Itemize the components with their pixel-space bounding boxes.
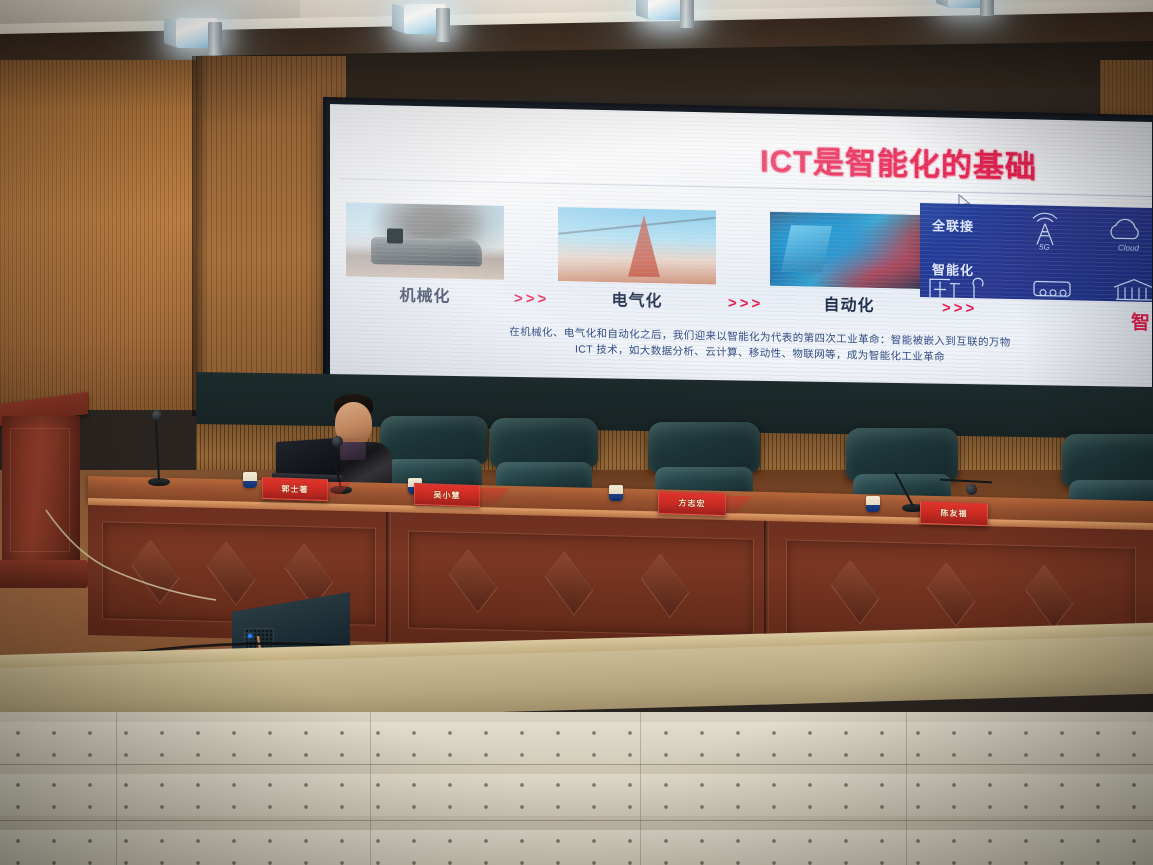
chair-backrest xyxy=(1062,434,1153,486)
wall-panel-center xyxy=(196,56,346,416)
slide-arrow-2: >>> xyxy=(728,295,763,313)
panel-icon-caption-cloud: Cloud xyxy=(1118,243,1139,252)
slide-final-stage-label: 智 xyxy=(1131,308,1150,335)
automated-factory-image xyxy=(770,212,928,289)
projection-screen: ICT是智能化的基础 机械化 >>> xyxy=(326,100,1153,400)
tactile-paving-strip-2 xyxy=(0,774,1153,816)
slide-arrow-1: >>> xyxy=(514,290,549,308)
slide-stage-1: 机械化 xyxy=(346,202,504,205)
name-placard-1-text: 郭士著 xyxy=(282,483,309,495)
wall-corner-shadow xyxy=(192,56,208,416)
panel-icon-caption-5g: 5G xyxy=(1039,243,1050,252)
tactile-dots xyxy=(0,722,1153,764)
floor-seam xyxy=(0,764,1153,765)
slide-title: ICT是智能化的基础 xyxy=(760,135,1037,186)
electric-pylon-image xyxy=(558,207,716,284)
person-collar xyxy=(340,442,366,460)
slide-blue-panel: 全联接 5G Cloud 智能化 xyxy=(920,203,1152,302)
slide-stage-1-label: 机械化 xyxy=(346,280,504,307)
tactile-dots xyxy=(0,774,1153,816)
slide-body-text: 在机械化、电气化和自动化之后，我们迎来以智能化为代表的第四次工业革命：智能被嵌入… xyxy=(420,322,1100,369)
floor-seam-vertical xyxy=(906,712,907,865)
microphone-head-2 xyxy=(332,436,343,447)
name-placard-4-text: 陈友福 xyxy=(941,508,968,520)
paper-cup-3 xyxy=(609,485,623,501)
paper-cup-1 xyxy=(243,472,257,488)
microphone-head-3 xyxy=(966,484,977,495)
tactile-paving-strip-1 xyxy=(0,722,1153,764)
slide-stage-3-label: 自动化 xyxy=(770,290,928,317)
panel-row-1-label: 全联接 xyxy=(932,215,974,235)
paper-cup-4 xyxy=(866,496,880,512)
tactile-dots xyxy=(0,830,1153,865)
floor-seam-vertical xyxy=(640,712,641,865)
slide-arrow-3: >>> xyxy=(942,299,977,317)
building-icon xyxy=(1112,277,1152,302)
podium-cable xyxy=(40,470,240,650)
floor-seam xyxy=(0,820,1153,821)
chair-backrest xyxy=(846,428,958,480)
tactile-paving-strip-3 xyxy=(0,830,1153,865)
steam-locomotive-image xyxy=(346,202,504,279)
spotlight-bracket-icon xyxy=(980,0,994,16)
datacenter-icon xyxy=(1030,275,1078,302)
chair-backrest xyxy=(648,422,760,472)
floor-seam-vertical xyxy=(370,712,371,865)
conference-hall-photo: ICT是智能化的基础 机械化 >>> xyxy=(0,0,1153,865)
floor-seam-vertical xyxy=(116,712,117,865)
slide-stage-2-label: 电气化 xyxy=(558,285,716,312)
chair-backrest xyxy=(490,418,598,467)
projected-slide: ICT是智能化的基础 机械化 >>> xyxy=(330,104,1152,396)
slide-stage-3: 自动化 xyxy=(770,212,928,215)
spotlight-bracket-icon xyxy=(436,8,450,42)
name-placard-3-text: 方志宏 xyxy=(679,498,706,510)
name-placard-2-text: 吴小慧 xyxy=(434,489,461,501)
microphone-head-1 xyxy=(152,410,163,421)
spotlight-bracket-icon xyxy=(680,0,694,28)
hall-floor xyxy=(0,712,1153,865)
name-placard-4: 陈友福 xyxy=(920,501,988,526)
slide-stage-2: 电气化 xyxy=(558,207,716,210)
wall-panel-left xyxy=(0,60,205,410)
spotlight-bracket-icon xyxy=(208,22,222,56)
